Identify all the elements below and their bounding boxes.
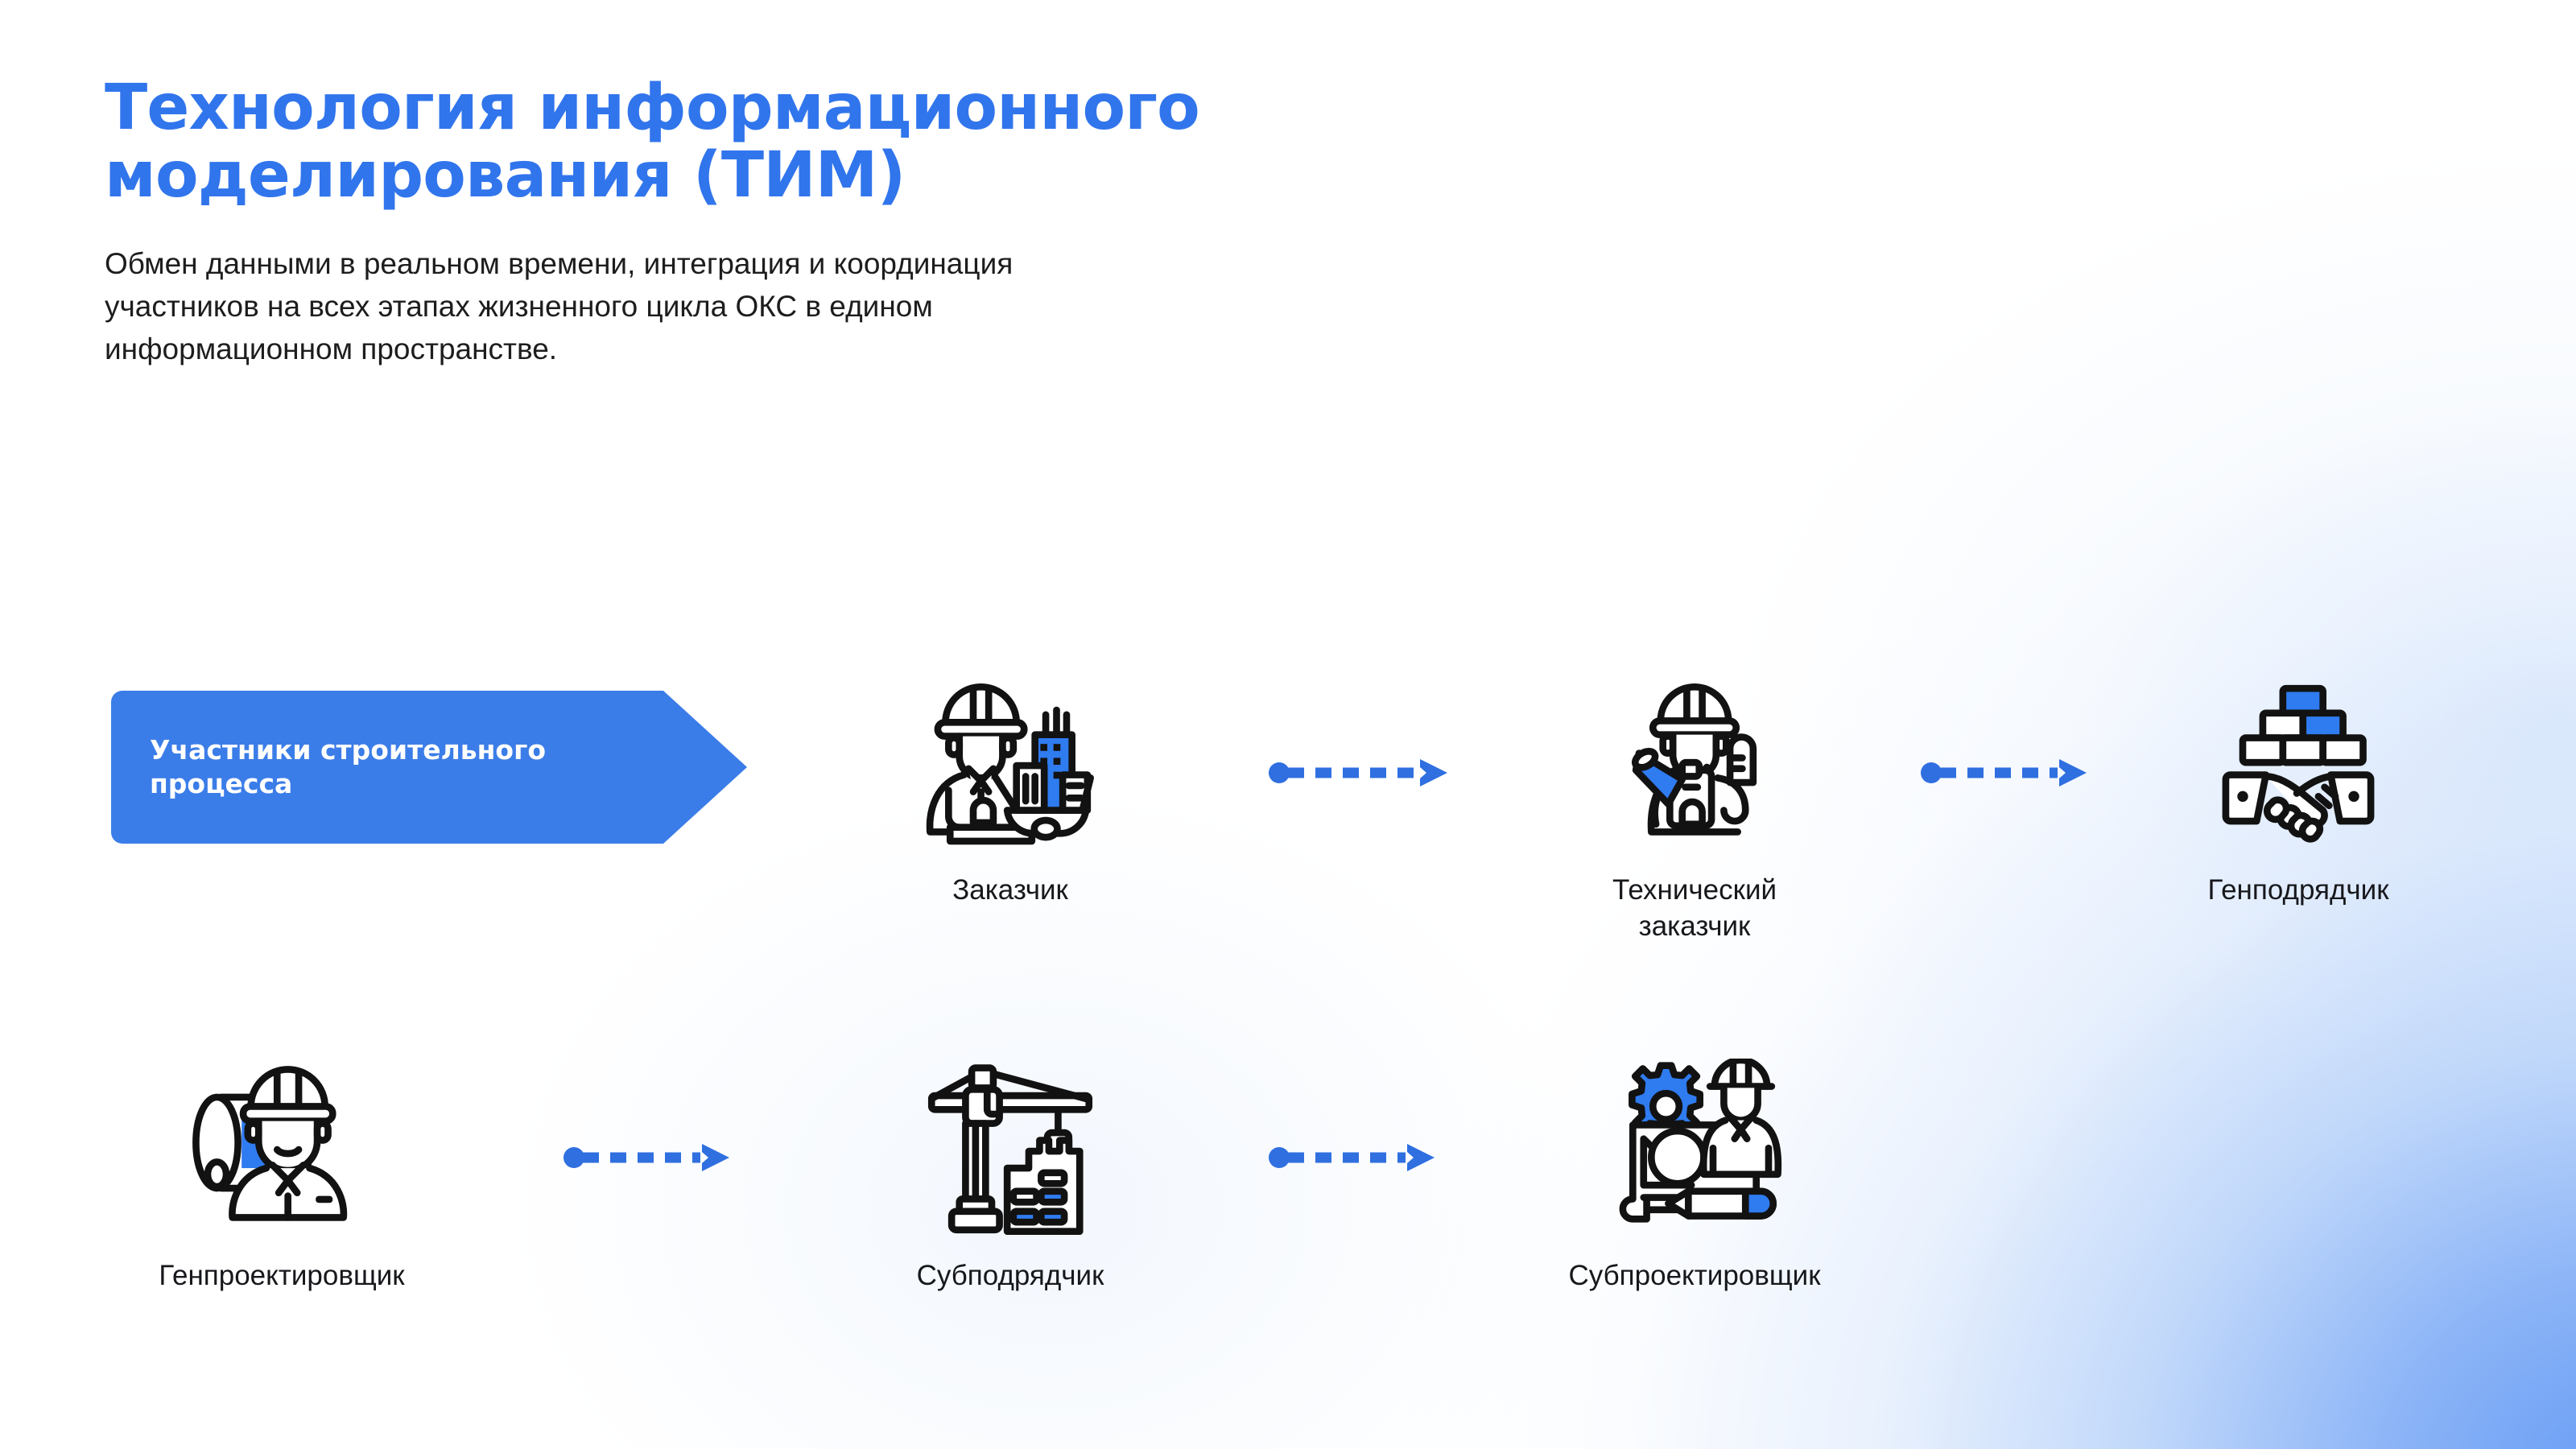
participants-banner: Участники строительного процесса (111, 691, 747, 844)
flow-node-label: Технический заказчик (1612, 873, 1777, 945)
flow-node-subpodryadchik[interactable]: Субподрядчик (841, 1059, 1179, 1294)
page-title: Технология информационного моделирования… (105, 74, 1876, 209)
connector-arrow-tech-to-genpodryad (1921, 749, 2091, 797)
participants-banner-label: Участники строительного процесса (150, 691, 681, 844)
header-block: Технология информационного моделирования… (105, 74, 1876, 370)
technical-customer-icon (1602, 673, 1787, 858)
flow-node-label: Субподрядчик (917, 1258, 1104, 1294)
connector-arrow-genproekt-to-subpodryad (563, 1133, 734, 1182)
slide-canvas: Технология информационного моделирования… (0, 0, 2576, 1449)
general-contractor-icon (2206, 673, 2391, 858)
flow-node-label: Заказчик (952, 873, 1068, 909)
flow-node-label: Субпроектировщик (1568, 1258, 1820, 1294)
page-subtitle: Обмен данными в реальном времени, интегр… (105, 243, 1876, 370)
general-designer-icon (189, 1059, 374, 1244)
flow-node-zakazchik[interactable]: Заказчик (841, 673, 1179, 909)
flow-node-genproektirovshchik[interactable]: Генпроектировщик (113, 1059, 451, 1294)
customer-icon (918, 673, 1103, 858)
flow-node-subproektirovshchik[interactable]: Субпроектировщик (1525, 1059, 1864, 1294)
flow-node-genpodryadchik[interactable]: Генподрядчик (2129, 673, 2467, 909)
flow-node-tech-zakazchik[interactable]: Технический заказчик (1525, 673, 1864, 945)
flow-node-label: Генпроектировщик (159, 1258, 404, 1294)
connector-arrow-zakazchik-to-tech (1269, 749, 1454, 797)
sub-designer-icon (1602, 1059, 1787, 1244)
flow-node-label: Генподрядчик (2207, 873, 2388, 909)
subcontractor-crane-icon (918, 1059, 1103, 1244)
connector-arrow-subpodryad-to-subproekt (1269, 1133, 1439, 1182)
